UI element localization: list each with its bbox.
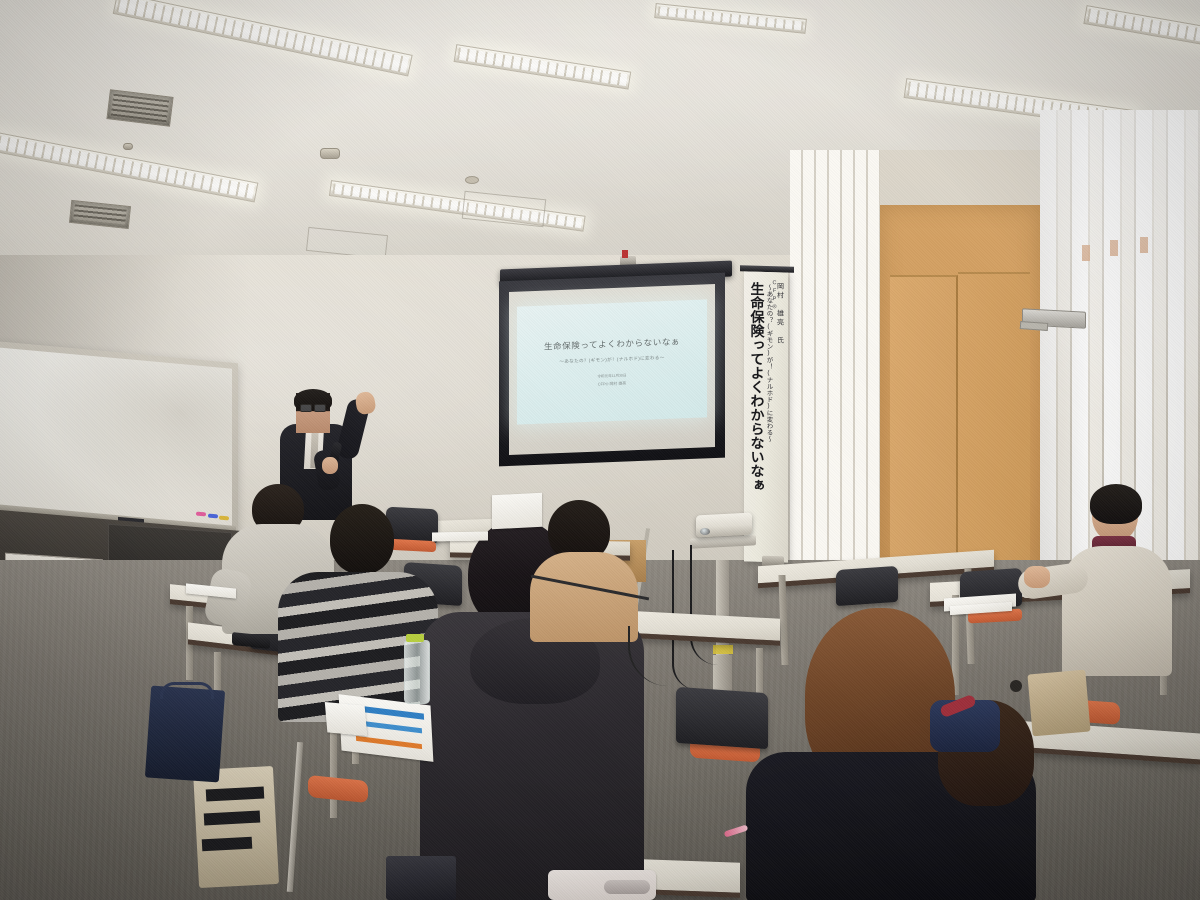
seminar-room-photo: 生命保険ってよくわからないなぁ ～あなたの？(ギモン)が！(ナルホド)に変わる～…: [0, 0, 1200, 900]
laptop-lid[interactable]: [492, 493, 542, 530]
beige-bag-right[interactable]: [1027, 670, 1090, 737]
screen-mount-marker: [622, 250, 628, 258]
slide-subtitle: ～あなたの？(ギモン)が！(ナルホド)に変わる～: [559, 354, 664, 364]
blind-tab: [1110, 240, 1118, 256]
slide-title: 生命保険ってよくわからないなぁ: [544, 335, 680, 352]
presenter-mic-hand: [322, 457, 338, 474]
bottle-cap-icon: [406, 634, 424, 642]
slide-date: 令和元年11月30日: [597, 373, 626, 379]
slide-presenter: CFP® 岡村 雄亮: [598, 380, 626, 387]
marker-blue-icon[interactable]: [208, 514, 218, 519]
blind-tab: [1082, 245, 1090, 261]
smoke-detector-icon: [320, 148, 340, 159]
blind-tab: [1140, 237, 1148, 253]
attendee-head: [330, 504, 394, 574]
banner-presenter-name: 岡村 雄亮 氏: [777, 282, 784, 562]
tote-bag[interactable]: [193, 766, 279, 888]
navy-bag-handle: [160, 682, 214, 699]
projector-lens-icon: [700, 528, 710, 535]
pen-case-icon[interactable]: [604, 880, 650, 894]
chair-back-right-1[interactable]: [836, 566, 898, 606]
attendee-body: [530, 552, 638, 642]
chair-right-mid[interactable]: [676, 687, 768, 749]
marker-yellow-icon[interactable]: [219, 516, 229, 521]
projected-slide: 生命保険ってよくわからないなぁ ～あなたの？(ギモン)が！(ナルホド)に変わる～…: [517, 299, 707, 424]
navy-bag[interactable]: [145, 686, 225, 783]
chair-caster-icon: [1010, 680, 1022, 692]
smoke-detector-icon-2: [123, 143, 133, 150]
attendee-hands: [1024, 566, 1050, 588]
papers-center-desk[interactable]: [432, 532, 488, 542]
ceiling-speaker-icon: [465, 176, 479, 184]
chair-seat-left-1[interactable]: [390, 539, 436, 552]
banner-title: 生命保険ってよくわからないなぁ: [751, 282, 765, 562]
water-bottle[interactable]: [404, 640, 430, 704]
attendee-hair: [1090, 484, 1142, 524]
seminar-handout-2[interactable]: [325, 702, 367, 736]
marker-pink-icon[interactable]: [196, 512, 206, 517]
bag-under-front-desk[interactable]: [386, 856, 456, 900]
glasses-icon: [300, 404, 326, 410]
